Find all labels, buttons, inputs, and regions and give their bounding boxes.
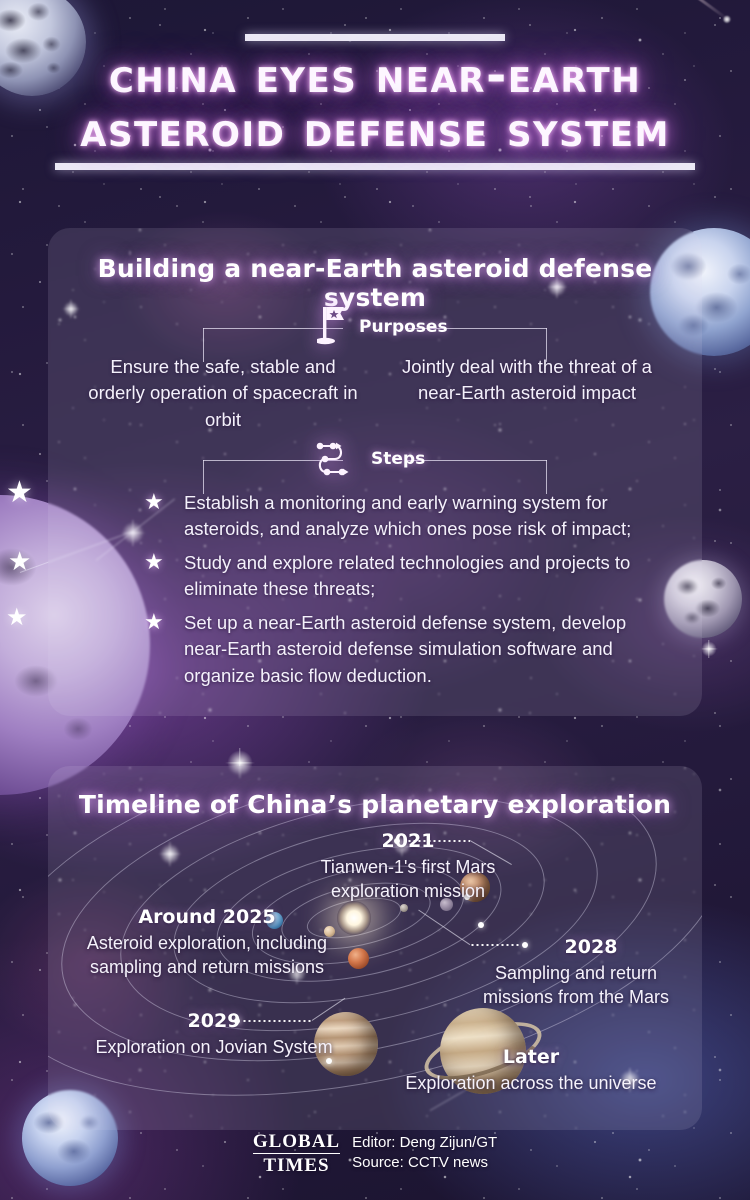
timeline-desc-2028: Sampling and return missions from the Ma… xyxy=(458,962,694,1010)
timeline-year-later: Later xyxy=(368,1046,694,1068)
timeline-entry-2028: 2028 Sampling and return missions from t… xyxy=(458,936,694,1010)
page-title-line2: asteroid defense system xyxy=(0,105,750,155)
timeline-leader-2021 xyxy=(402,840,470,842)
purpose-item-2: Jointly deal with the threat of a near-E… xyxy=(392,354,662,407)
timeline-leader-2028 xyxy=(470,944,520,946)
star-bullet-icon: ★ xyxy=(144,611,164,633)
step-item-1: ★ Establish a monitoring and early warni… xyxy=(144,490,672,543)
star-bullet-icon: ★ xyxy=(144,551,164,573)
title-rule-top xyxy=(245,34,505,41)
timeline-dot-2021 xyxy=(394,838,400,844)
star-bullet-icon: ★ xyxy=(144,491,164,513)
timeline-entry-2025: Around 2025 Asteroid exploration, includ… xyxy=(62,906,352,980)
step-item-1-text: Establish a monitoring and early warning… xyxy=(184,492,631,539)
infographic-root: ★ ★ ★ China eyes near-Earth asteroid def… xyxy=(0,0,750,1200)
timeline-desc-2025: Asteroid exploration, including sampling… xyxy=(62,932,352,980)
steps-header: Steps xyxy=(48,438,702,484)
timeline-dot-2029 xyxy=(234,1018,240,1024)
flow-steps-icon xyxy=(313,438,357,485)
flag-icon xyxy=(317,304,347,351)
title-rule-bottom xyxy=(55,163,695,170)
footer: GLOBAL TIMES Editor: Deng Zijun/GT Sourc… xyxy=(0,1132,750,1175)
decorative-star-icon: ★ xyxy=(6,606,28,630)
source-credit: Source: CCTV news xyxy=(352,1153,497,1173)
logo-line-1: GLOBAL xyxy=(253,1132,340,1151)
global-times-logo: GLOBAL TIMES xyxy=(253,1132,340,1175)
page-title-block: China eyes near-Earth asteroid defense s… xyxy=(0,34,750,170)
timeline-dot-2028 xyxy=(522,942,528,948)
defense-panel-title: Building a near-Earth asteroid defense s… xyxy=(48,254,702,312)
purpose-item-1: Ensure the safe, stable and orderly oper… xyxy=(88,354,358,433)
step-item-3-text: Set up a near-Earth asteroid defense sys… xyxy=(184,612,626,686)
leader-dot-mars-lower xyxy=(478,922,484,928)
timeline-desc-2029: Exploration on Jovian System xyxy=(66,1036,362,1060)
defense-system-panel: Building a near-Earth asteroid defense s… xyxy=(48,228,702,716)
decorative-star-icon: ★ xyxy=(6,478,33,508)
logo-divider xyxy=(253,1153,340,1155)
step-item-2: ★ Study and explore related technologies… xyxy=(144,550,672,603)
timeline-panel-title: Timeline of China’s planetary exploratio… xyxy=(48,790,702,819)
page-title-line1: China eyes near-Earth xyxy=(0,51,750,101)
step-item-3: ★ Set up a near-Earth asteroid defense s… xyxy=(144,610,672,689)
step-item-2-text: Study and explore related technologies a… xyxy=(184,552,630,599)
purposes-label: Purposes xyxy=(359,317,448,337)
timeline-desc-later: Exploration across the universe xyxy=(368,1072,694,1096)
planet-mercury xyxy=(400,904,408,912)
logo-line-2: TIMES xyxy=(253,1156,340,1175)
steps-label: Steps xyxy=(371,449,425,469)
steps-rail-right xyxy=(407,460,547,461)
timeline-leader-2029 xyxy=(242,1020,312,1022)
timeline-year-2029: 2029 xyxy=(66,1010,362,1032)
editor-credit: Editor: Deng Zijun/GT xyxy=(352,1133,497,1153)
timeline-year-2028: 2028 xyxy=(488,936,694,958)
timeline-entry-later: Later Exploration across the universe xyxy=(368,1046,694,1096)
timeline-year-2025: Around 2025 xyxy=(62,906,352,928)
purposes-header: Purposes xyxy=(48,306,702,352)
credits: Editor: Deng Zijun/GT Source: CCTV news xyxy=(352,1133,497,1173)
timeline-desc-2021: Tianwen-1's first Mars exploration missi… xyxy=(278,856,538,904)
